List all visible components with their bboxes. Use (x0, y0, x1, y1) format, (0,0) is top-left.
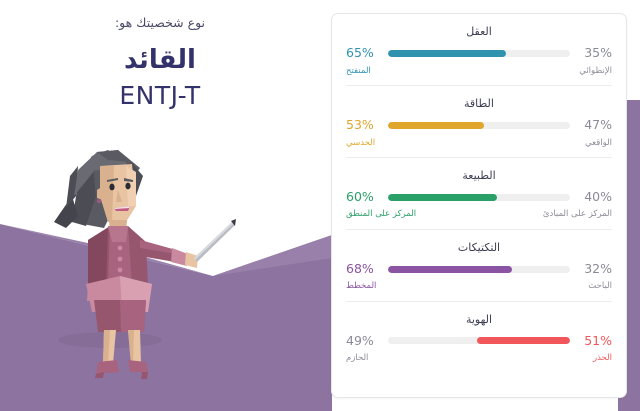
trait-left-percent-mind: 65% (346, 47, 381, 60)
trait-right-percent-energy: 47% (577, 119, 612, 132)
trait-bar-fill-nature (388, 194, 497, 201)
personality-type-code: ENTJ-T (0, 81, 320, 111)
lead-text: نوع شخصيتك هو: (0, 14, 320, 32)
trait-bar-row-mind: 65%35% (346, 47, 612, 60)
trait-bar-row-identity: 49%51% (346, 335, 612, 348)
result-page: نوع شخصيتك هو: القائد ENTJ-T العقل65%35%… (0, 0, 640, 411)
trait-title-tactics: التكتيكات (346, 241, 612, 254)
trait-left-percent-nature: 60% (346, 191, 381, 204)
trait-left-label-nature: المركز على المنطق (346, 209, 479, 219)
trait-nature: الطبيعة60%40%المركز على المنطقالمركز على… (346, 158, 612, 230)
trait-bar-row-tactics: 68%32% (346, 263, 612, 276)
trait-right-label-nature: المركز على المبادئ (479, 209, 612, 219)
trait-energy: الطاقة53%47%الحدسيالواقعي (346, 86, 612, 158)
trait-left-label-mind: المنفتح (346, 66, 479, 76)
trait-bar-row-nature: 60%40% (346, 191, 612, 204)
trait-bar-row-energy: 53%47% (346, 119, 612, 132)
trait-label-row-identity: الحازمالحذر (346, 353, 612, 363)
trait-bar-fill-mind (388, 50, 506, 57)
traits-card: العقل65%35%المنفتحالإنطوائيالطاقة53%47%ا… (331, 13, 627, 398)
trait-mind: العقل65%35%المنفتحالإنطوائي (346, 14, 612, 86)
trait-bar-track-mind (388, 50, 570, 57)
trait-right-percent-nature: 40% (577, 191, 612, 204)
trait-label-row-mind: المنفتحالإنطوائي (346, 66, 612, 76)
trait-bar-track-nature (388, 194, 570, 201)
trait-bar-track-energy (388, 122, 570, 129)
trait-left-label-energy: الحدسي (346, 138, 479, 148)
trait-label-row-nature: المركز على المنطقالمركز على المبادئ (346, 209, 612, 219)
trait-left-percent-identity: 49% (346, 335, 381, 348)
trait-right-label-energy: الواقعي (479, 138, 612, 148)
trait-title-identity: الهوية (346, 313, 612, 326)
trait-bar-fill-tactics (388, 266, 512, 273)
headline-block: نوع شخصيتك هو: القائد ENTJ-T (0, 14, 320, 111)
trait-title-nature: الطبيعة (346, 169, 612, 182)
trait-title-energy: الطاقة (346, 97, 612, 110)
personality-type-name: القائد (0, 46, 320, 76)
trait-label-row-energy: الحدسيالواقعي (346, 138, 612, 148)
trait-right-label-tactics: الباحث (479, 281, 612, 291)
trait-right-label-mind: الإنطوائي (479, 66, 612, 76)
trait-right-label-identity: الحذر (479, 353, 612, 363)
trait-bar-track-identity (388, 337, 570, 344)
trait-left-percent-energy: 53% (346, 119, 381, 132)
trait-right-percent-identity: 51% (577, 335, 612, 348)
trait-tactics: التكتيكات68%32%المخططالباحث (346, 230, 612, 302)
trait-label-row-tactics: المخططالباحث (346, 281, 612, 291)
trait-left-label-identity: الحازم (346, 353, 479, 363)
trait-left-percent-tactics: 68% (346, 263, 381, 276)
trait-left-label-tactics: المخطط (346, 281, 479, 291)
trait-right-percent-mind: 35% (577, 47, 612, 60)
trait-bar-fill-energy (388, 122, 484, 129)
trait-identity: الهوية49%51%الحازمالحذر (346, 302, 612, 373)
trait-bar-track-tactics (388, 266, 570, 273)
trait-title-mind: العقل (346, 25, 612, 38)
trait-right-percent-tactics: 32% (577, 263, 612, 276)
trait-bar-fill-identity (477, 337, 570, 344)
